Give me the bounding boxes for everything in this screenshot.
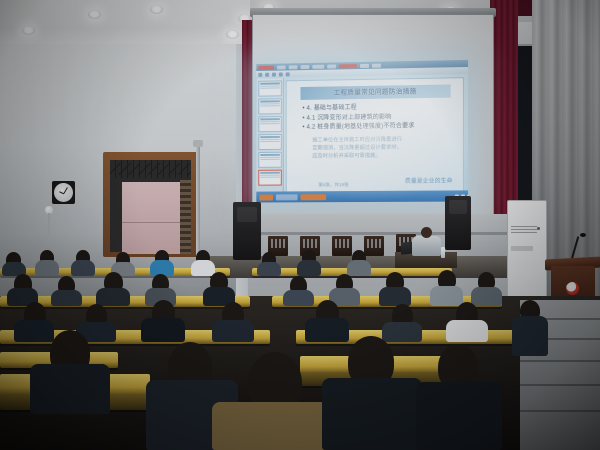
audience-body bbox=[14, 320, 54, 342]
audience-body bbox=[416, 382, 502, 450]
audience-body bbox=[212, 320, 254, 342]
audience-body bbox=[297, 260, 321, 276]
stage-wall-band bbox=[248, 232, 512, 235]
air-conditioner-vent bbox=[511, 226, 537, 233]
audience-body bbox=[71, 260, 95, 276]
water-bottle bbox=[441, 247, 445, 258]
audience-body bbox=[30, 364, 110, 414]
audience-body bbox=[382, 322, 422, 342]
lecture-hall-photo: 工程质量常见问题防治措施 • 4. 基础与基础工程 • 4.1 沉降变形对上部建… bbox=[0, 0, 600, 450]
audience-body bbox=[283, 290, 314, 306]
doorway-curtain bbox=[122, 182, 180, 254]
air-conditioner-panel bbox=[511, 246, 533, 251]
audience-body bbox=[430, 286, 463, 306]
recessed-downlight-icon bbox=[226, 30, 239, 39]
recessed-downlight-icon bbox=[88, 10, 101, 19]
presenter-head bbox=[421, 227, 432, 238]
audience-body bbox=[51, 290, 82, 306]
clock-minute-hand bbox=[63, 187, 68, 194]
air-conditioner-led-icon bbox=[537, 227, 540, 230]
doorway-curtain-seam bbox=[122, 222, 180, 223]
recessed-downlight-icon bbox=[22, 26, 35, 35]
audience-body bbox=[257, 262, 281, 276]
stair-edge bbox=[520, 410, 600, 412]
podium-emblem-icon bbox=[566, 282, 579, 295]
presenter-body bbox=[412, 236, 441, 256]
audience-body bbox=[191, 260, 215, 276]
stair-edge bbox=[520, 360, 600, 362]
audience-body bbox=[512, 316, 548, 356]
stage-curtain-valance bbox=[518, 0, 532, 16]
left-speaker-tower bbox=[233, 202, 261, 260]
door-slats bbox=[180, 180, 191, 254]
audience-body bbox=[347, 260, 371, 276]
door-grille-pattern bbox=[110, 163, 191, 175]
stage-chair bbox=[364, 236, 384, 256]
audience-body bbox=[141, 318, 185, 342]
audience-body bbox=[96, 288, 130, 306]
stage-chair bbox=[332, 236, 352, 256]
projector-glow bbox=[256, 60, 468, 203]
audience-body bbox=[322, 378, 422, 450]
clock-face bbox=[54, 183, 73, 202]
recessed-downlight-icon bbox=[150, 5, 163, 14]
projected-powerpoint: 工程质量常见问题防治措施 • 4. 基础与基础工程 • 4.1 沉降变形对上部建… bbox=[256, 60, 468, 203]
audience-body bbox=[446, 320, 488, 342]
wall-lamp-rod bbox=[48, 213, 50, 239]
right-speaker-tower bbox=[445, 196, 471, 250]
wall-clock bbox=[52, 181, 75, 204]
wall-pipe bbox=[196, 144, 200, 256]
audience-body bbox=[379, 287, 411, 306]
audience-body bbox=[35, 260, 59, 276]
microphone-head-icon bbox=[580, 233, 586, 237]
audience-body bbox=[471, 287, 502, 306]
audience-body bbox=[305, 318, 349, 342]
wall-pipe-cap bbox=[193, 140, 203, 147]
stair-edge bbox=[520, 384, 600, 386]
stage-curtain-right bbox=[490, 0, 518, 230]
